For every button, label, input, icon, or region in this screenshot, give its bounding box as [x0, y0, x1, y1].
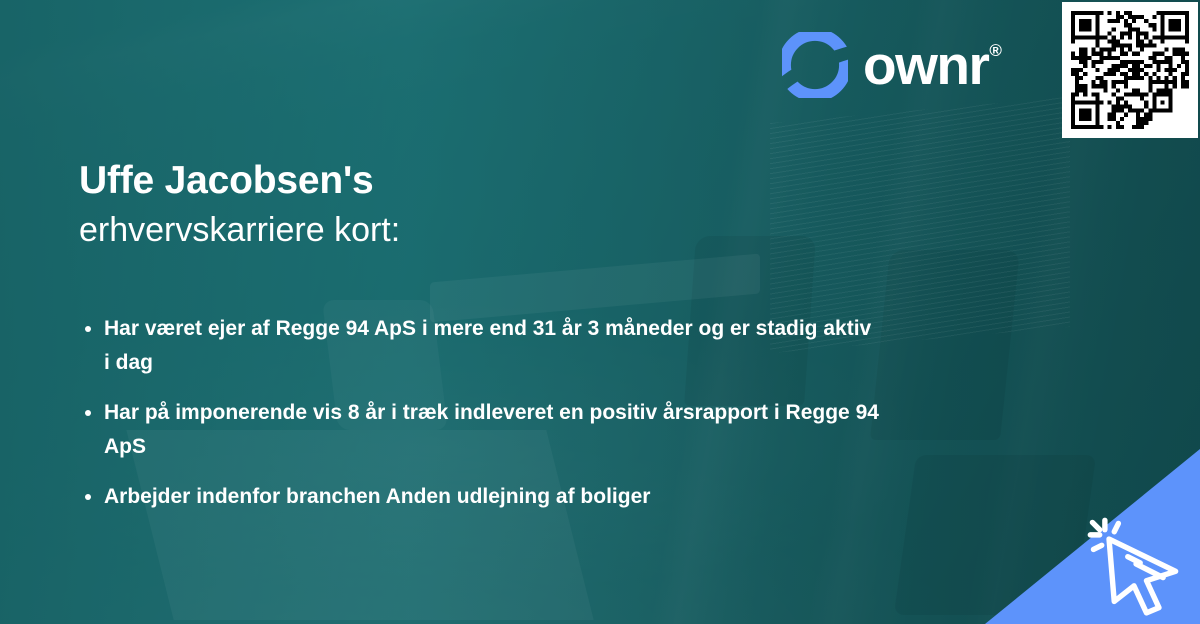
headline-line-1: Uffe Jacobsen's	[79, 158, 400, 204]
career-highlights-list: Har været ejer af Regge 94 ApS i mere en…	[79, 312, 879, 514]
bullet-dot-icon	[85, 494, 91, 500]
list-item: Har på imponerende vis 8 år i træk indle…	[79, 396, 879, 464]
ownr-logo[interactable]: ownr ®	[782, 32, 1000, 98]
list-item: Arbejder indenfor branchen Anden udlejni…	[79, 480, 879, 514]
promo-banner: ownr ® Uffe Jacobsen's erhvervskarriere …	[0, 0, 1200, 624]
bullet-dot-icon	[85, 410, 91, 416]
ownr-wordmark-text: ownr	[863, 38, 988, 93]
qr-code-image	[1071, 11, 1189, 129]
headline-line-2: erhvervskarriere kort:	[79, 210, 400, 251]
registered-trademark-symbol: ®	[989, 42, 1000, 59]
list-item-text: Arbejder indenfor branchen Anden udlejni…	[104, 485, 650, 508]
list-item: Har været ejer af Regge 94 ApS i mere en…	[79, 312, 879, 380]
ownr-wordmark: ownr ®	[863, 38, 1000, 93]
qr-code[interactable]	[1062, 2, 1198, 138]
bullet-dot-icon	[85, 326, 91, 332]
list-item-text: Har været ejer af Regge 94 ApS i mere en…	[104, 317, 871, 374]
ownr-circle-swoosh-logo-icon	[782, 32, 848, 98]
list-item-text: Har på imponerende vis 8 år i træk indle…	[104, 401, 879, 458]
click-cursor-icon	[1080, 512, 1188, 616]
page-title: Uffe Jacobsen's erhvervskarriere kort:	[79, 158, 400, 251]
